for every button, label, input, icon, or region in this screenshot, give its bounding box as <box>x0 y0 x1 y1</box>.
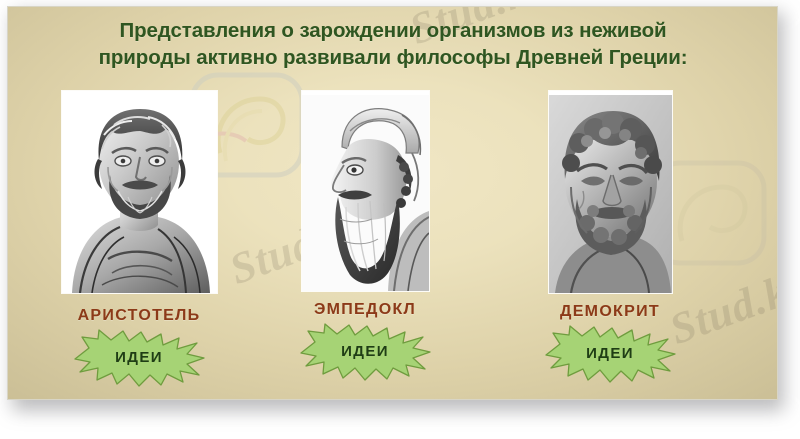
philosopher-name: АРИСТОТЕЛЬ <box>46 307 232 325</box>
philosopher-name: ДЕМОКРИТ <box>535 303 685 321</box>
ideas-badge-aristotle[interactable]: ИДЕИ <box>71 329 207 387</box>
philosopher-card-democritus: ДЕМОКРИТ ИДЕИ <box>535 91 685 383</box>
ideas-badge-label: ИДЕИ <box>297 323 433 381</box>
aristotle-bust-engraving <box>62 91 217 293</box>
philosopher-card-aristotle: АРИСТОТЕЛЬ ИДЕИ <box>46 91 232 387</box>
slide-title: Представления о зарождении организмов из… <box>48 17 738 71</box>
slide-page: Stud.kz Stud.kz Stud.kz Stud.kz <box>0 0 800 439</box>
title-line-2: природы активно развивали философы Древн… <box>48 44 738 71</box>
ideas-badge-empedocles[interactable]: ИДЕИ <box>297 323 433 381</box>
stud-kz-logo-icon <box>18 397 140 400</box>
watermark-text: Stud.kz <box>258 389 407 400</box>
democritus-bust-photo <box>549 91 672 293</box>
philosopher-card-empedocles: ЭМПЕДОКЛ ИДЕИ <box>289 91 441 381</box>
empedocles-profile-drawing <box>302 91 429 291</box>
ideas-badge-label: ИДЕИ <box>542 325 678 383</box>
philosopher-name: ЭМПЕДОКЛ <box>289 301 441 319</box>
title-line-1: Представления о зарождении организмов из… <box>48 17 738 44</box>
presentation-slide: Stud.kz Stud.kz Stud.kz Stud.kz <box>7 6 778 400</box>
ideas-badge-democritus[interactable]: ИДЕИ <box>542 325 678 383</box>
ideas-badge-label: ИДЕИ <box>71 329 207 387</box>
